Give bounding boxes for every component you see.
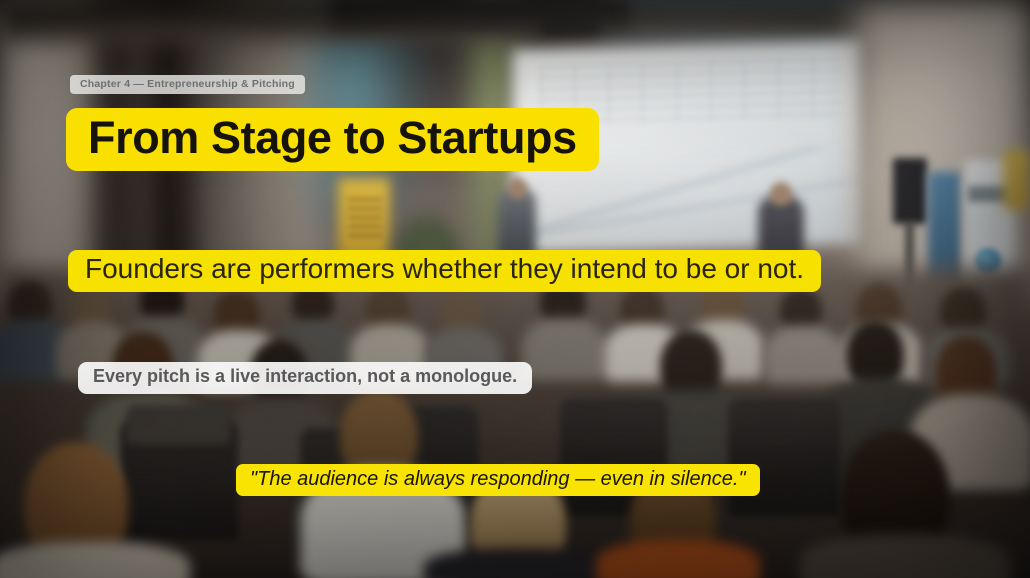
presentation-slide: Chapter 4 — Entrepreneurship & Pitching … (0, 0, 1030, 578)
slide-quote: "The audience is always responding — eve… (236, 464, 760, 496)
slide-title: From Stage to Startups (66, 108, 599, 171)
chapter-eyebrow: Chapter 4 — Entrepreneurship & Pitching (70, 75, 305, 94)
slide-subtitle: Founders are performers whether they int… (68, 250, 821, 292)
text-overlay: Chapter 4 — Entrepreneurship & Pitching … (0, 0, 1030, 578)
slide-bullet: Every pitch is a live interaction, not a… (78, 362, 532, 394)
